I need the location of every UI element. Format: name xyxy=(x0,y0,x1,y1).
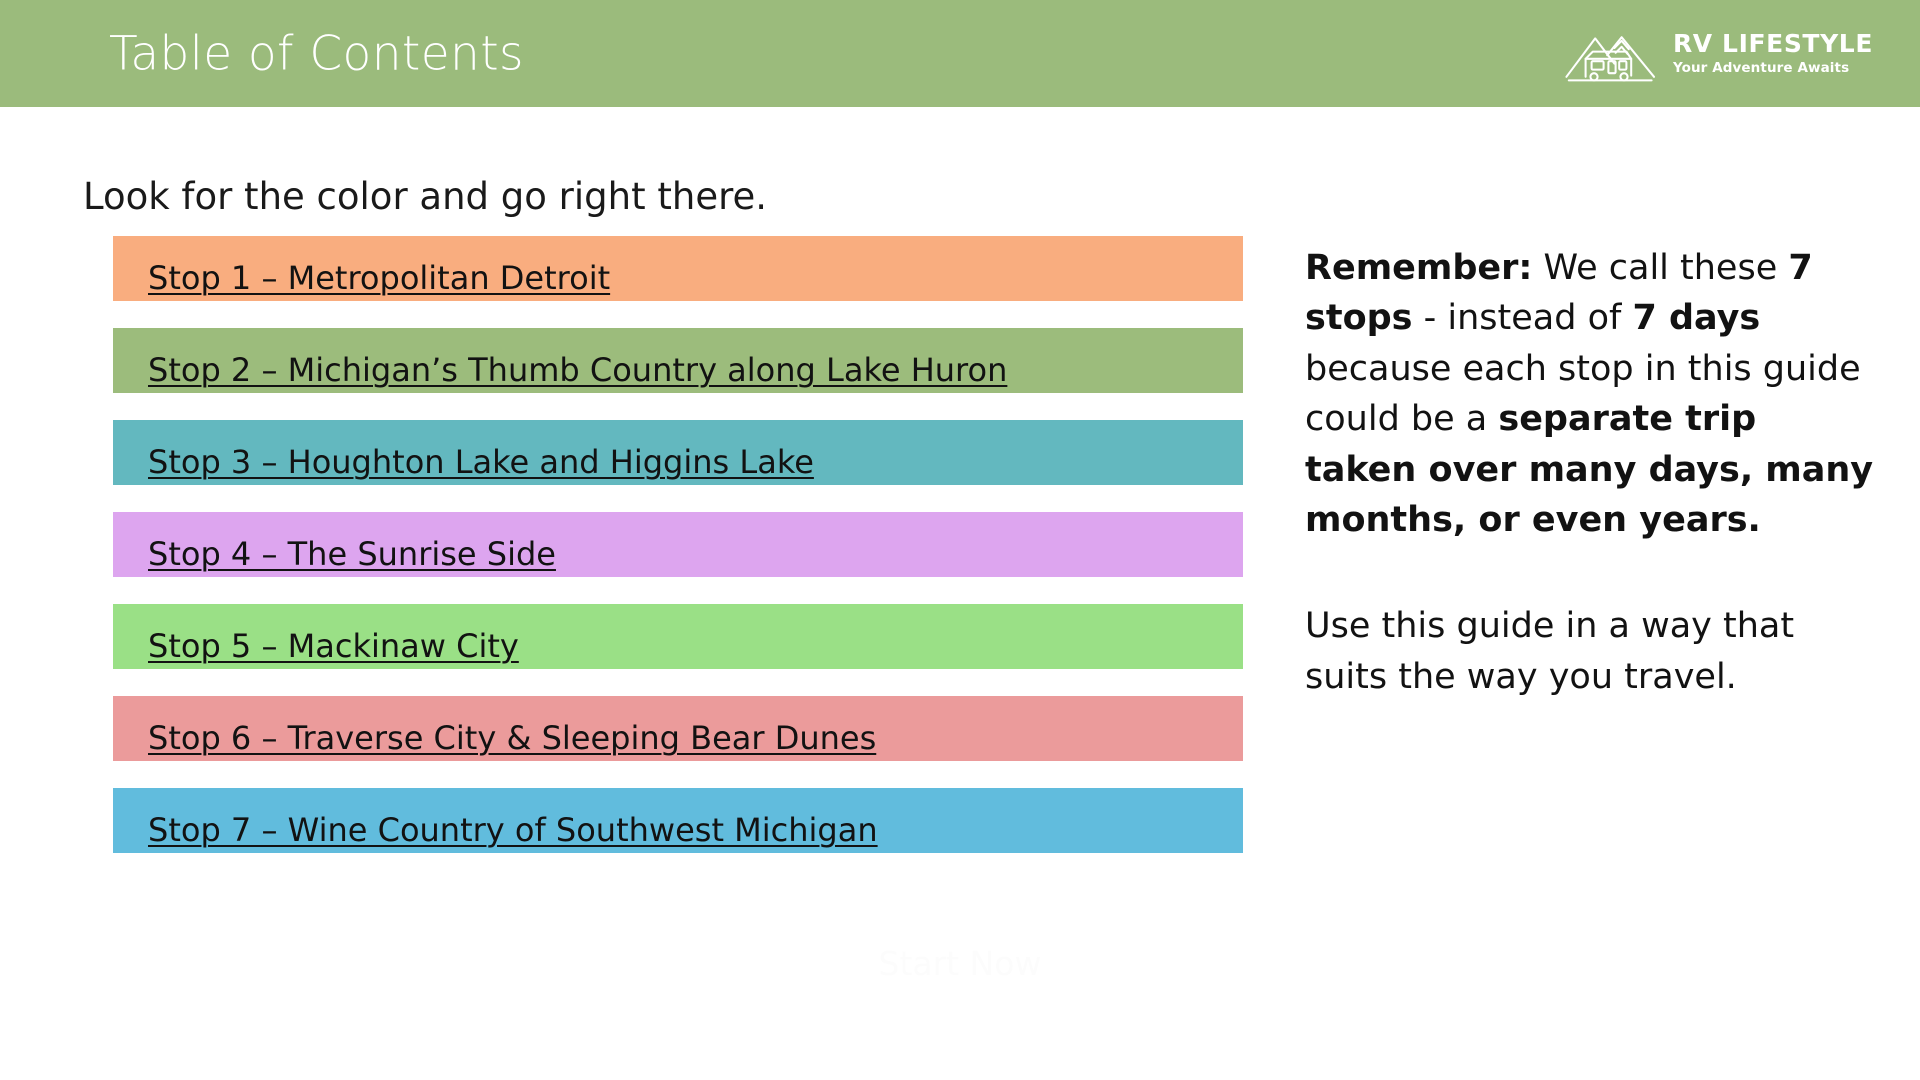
stop-link-1[interactable]: Stop 1 – Metropolitan Detroit xyxy=(148,259,610,297)
mountain-rv-icon xyxy=(1564,24,1660,84)
stop-link-3[interactable]: Stop 3 – Houghton Lake and Higgins Lake xyxy=(148,443,814,481)
stop-row[interactable]: Stop 2 – Michigan’s Thumb Country along … xyxy=(113,328,1243,393)
body-text: Use this guide in a way that suits the w… xyxy=(1305,606,1794,696)
side-column: Remember: We call these 7 stops - instea… xyxy=(1305,243,1875,702)
stop-link-2[interactable]: Stop 2 – Michigan’s Thumb Country along … xyxy=(148,351,1007,389)
body-text: - instead of xyxy=(1413,298,1633,338)
usage-paragraph: Use this guide in a way that suits the w… xyxy=(1305,601,1875,702)
brand-name: RV LIFESTYLE xyxy=(1673,31,1873,57)
stop-row[interactable]: Stop 4 – The Sunrise Side xyxy=(113,512,1243,577)
emphasis-text: Remember: xyxy=(1305,248,1532,288)
stop-row[interactable]: Stop 3 – Houghton Lake and Higgins Lake xyxy=(113,420,1243,485)
stop-link-5[interactable]: Stop 5 – Mackinaw City xyxy=(148,627,519,665)
stop-row[interactable]: Stop 5 – Mackinaw City xyxy=(113,604,1243,669)
brand-tagline: Your Adventure Awaits xyxy=(1673,60,1849,76)
brand-text: RV LIFESTYLE Your Adventure Awaits xyxy=(1673,31,1873,76)
stop-link-6[interactable]: Stop 6 – Traverse City & Sleeping Bear D… xyxy=(148,719,876,757)
stop-row[interactable]: Stop 7 – Wine Country of Southwest Michi… xyxy=(113,788,1243,853)
page-title: Table of Contents xyxy=(109,26,524,81)
page-header: Table of Contents RV LIFESTYLE Your Adve… xyxy=(0,0,1920,107)
stop-list: Stop 1 – Metropolitan DetroitStop 2 – Mi… xyxy=(113,236,1243,880)
stop-link-7[interactable]: Stop 7 – Wine Country of Southwest Michi… xyxy=(148,811,878,849)
brand-logo[interactable]: RV LIFESTYLE Your Adventure Awaits xyxy=(1564,24,1873,84)
start-now-label[interactable]: Start Now xyxy=(0,944,1920,983)
emphasis-text: 7 days xyxy=(1632,298,1760,338)
remember-paragraph: Remember: We call these 7 stops - instea… xyxy=(1305,243,1875,545)
intro-line: Look for the color and go right there. xyxy=(83,175,767,218)
stop-link-4[interactable]: Stop 4 – The Sunrise Side xyxy=(148,535,556,573)
stop-row[interactable]: Stop 6 – Traverse City & Sleeping Bear D… xyxy=(113,696,1243,761)
body-text: We call these xyxy=(1532,248,1788,288)
stop-row[interactable]: Stop 1 – Metropolitan Detroit xyxy=(113,236,1243,301)
